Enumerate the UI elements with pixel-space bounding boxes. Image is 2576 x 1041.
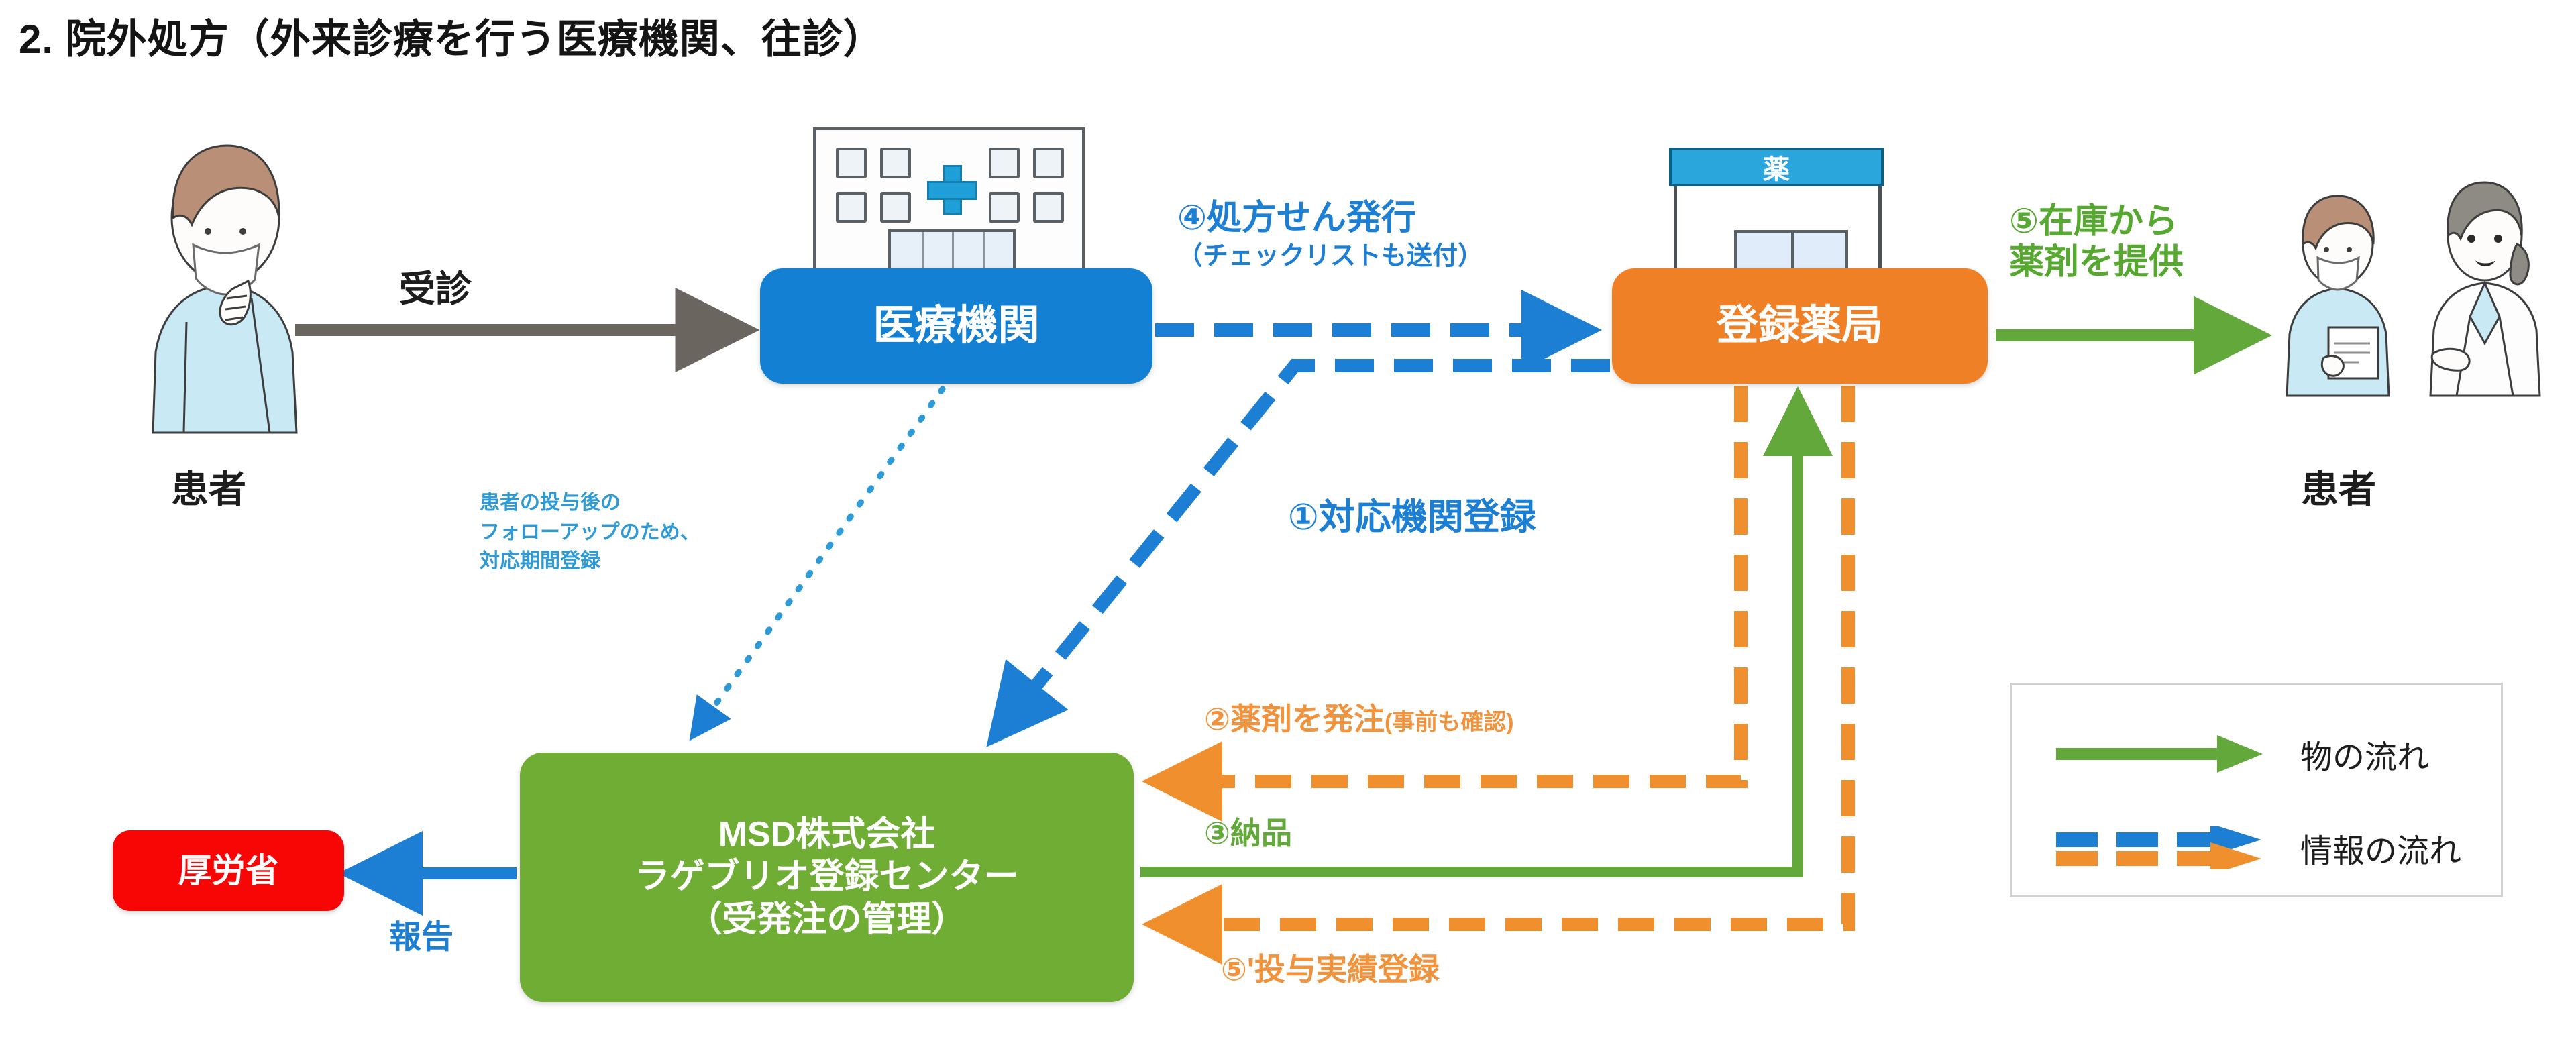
label-step3: ③納品 [1204, 815, 1292, 851]
pharmacist-illustration [2408, 174, 2563, 409]
arrow-followup-dotted [696, 389, 943, 731]
legend-item-goods: 物の流れ [2052, 730, 2429, 777]
label-step5-sub: 薬剤を提供 [2009, 243, 2184, 282]
pharmacy-sign-label: 薬 [1669, 148, 1884, 186]
label-houkoku: 報告 [389, 919, 453, 957]
label-followup-line3: 対応期間登録 [480, 547, 700, 576]
label-jushin: 受診 [399, 268, 472, 311]
node-mhlw[interactable]: 厚労省 [113, 830, 344, 911]
hospital-building-icon [813, 127, 1085, 276]
label-followup-line1: 患者の投与後の [480, 488, 700, 518]
label-step4: ④処方せん発行 （チェックリストも送付） [1177, 198, 1483, 272]
label-step5-main: ⑤在庫から [2009, 202, 2178, 241]
legend: 物の流れ 情報の流れ [2010, 683, 2503, 897]
page-title: 2. 院外処方（外来診療を行う医療機関、往診） [19, 7, 884, 65]
diagram-canvas: 2. 院外処方（外来診療を行う医療機関、往診） [0, 0, 2576, 1041]
node-pharmacy[interactable]: 登録薬局 [1612, 268, 1988, 384]
label-step4-sub: （チェックリストも送付） [1177, 241, 1483, 272]
dashed-blue-orange-arrow-icon [2052, 826, 2267, 869]
patient-right-illustration [2271, 188, 2405, 409]
label-step5-prime: ⑤'投与実績登録 [1221, 951, 1440, 987]
node-pharmacy-label: 登録薬局 [1717, 300, 1883, 351]
label-step4-main: ④処方せん発行 [1177, 199, 1416, 237]
medical-cross-icon [927, 165, 977, 215]
arrow-step1 [998, 366, 1610, 732]
node-hospital[interactable]: 医療機関 [760, 268, 1152, 384]
solid-green-arrow-icon [2052, 732, 2267, 775]
legend-label-info: 情報の流れ [2300, 824, 2461, 871]
patient-left-illustration [114, 131, 335, 446]
patient-left-label: 患者 [171, 459, 246, 514]
label-step1: ①対応機関登録 [1288, 496, 1536, 539]
label-step2-sub: (事前も確認) [1385, 710, 1514, 735]
label-step5: ⑤在庫から 薬剤を提供 [2009, 201, 2184, 284]
label-step2-main: ②薬剤を発注 [1204, 702, 1385, 736]
legend-item-info: 情報の流れ [2052, 824, 2461, 871]
node-hospital-label: 医療機関 [873, 300, 1039, 351]
label-followup-note: 患者の投与後の フォローアップのため、 対応期間登録 [480, 488, 700, 576]
patient-right-label: 患者 [2301, 459, 2376, 514]
label-step2: ②薬剤を発注(事前も確認) [1204, 701, 1514, 737]
node-msd-line2: ラゲブリオ登録センター [635, 856, 1018, 898]
node-msd-line3: （受発注の管理） [635, 899, 1018, 941]
label-followup-line2: フォローアップのため、 [480, 518, 700, 547]
node-msd-registration-center[interactable]: MSD株式会社 ラゲブリオ登録センター （受発注の管理） [520, 753, 1134, 1002]
arrow-step3 [1140, 402, 1798, 872]
node-msd-line1: MSD株式会社 [635, 814, 1018, 856]
legend-label-goods: 物の流れ [2300, 730, 2429, 777]
node-mhlw-label: 厚労省 [178, 851, 279, 891]
